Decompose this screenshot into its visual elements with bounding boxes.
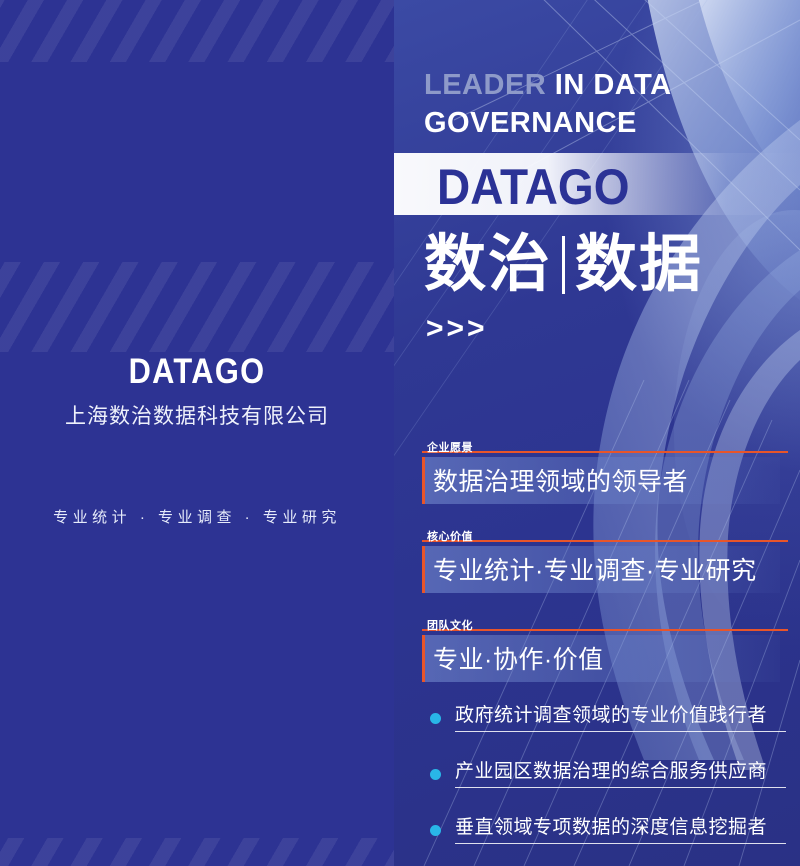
left-panel: DATAGO 上海数治数据科技有限公司 专业统计 · 专业调查 · 专业研究 xyxy=(0,0,394,866)
value-blocks: 企业愿景 数据治理领域的领导者 核心价值 专业统计·专业调查·专业研究 团队文化… xyxy=(422,438,780,705)
chinese-title-right: 数据 xyxy=(575,234,703,296)
bullet-text: 垂直领域专项数据的深度信息挖掘者 xyxy=(455,812,786,844)
value-block-vision: 企业愿景 数据治理领域的领导者 xyxy=(422,438,780,504)
bullet-dot-icon xyxy=(430,825,441,836)
value-block-culture: 团队文化 专业·协作·价值 xyxy=(422,616,780,682)
bullet-text: 政府统计调查领域的专业价值践行者 xyxy=(455,700,786,732)
bullet-text: 产业园区数据治理的综合服务供应商 xyxy=(455,756,786,788)
left-brand-wordmark: DATAGO xyxy=(24,352,371,392)
value-label: 企业愿景 xyxy=(422,439,476,456)
poster: DATAGO 上海数治数据科技有限公司 专业统计 · 专业调查 · 专业研究 xyxy=(0,0,800,866)
title-divider xyxy=(562,236,565,294)
left-panel-content: DATAGO 上海数治数据科技有限公司 专业统计 · 专业调查 · 专业研究 xyxy=(0,0,394,866)
value-text: 专业·协作·价值 xyxy=(422,635,780,682)
left-tagline: 专业统计 · 专业调查 · 专业研究 xyxy=(0,506,394,527)
list-item: 垂直领域专项数据的深度信息挖掘者 xyxy=(430,812,786,844)
value-rule xyxy=(422,451,788,453)
value-block-core: 核心价值 专业统计·专业调查·专业研究 xyxy=(422,527,780,593)
value-rule xyxy=(422,540,788,542)
left-company-name: 上海数治数据科技有限公司 xyxy=(0,400,394,430)
value-rule xyxy=(422,629,788,631)
bullet-list: 政府统计调查领域的专业价值践行者 产业园区数据治理的综合服务供应商 垂直领域专项… xyxy=(430,700,786,866)
headline-leader: LEADER xyxy=(424,69,546,101)
value-text: 专业统计·专业调查·专业研究 xyxy=(422,546,780,593)
headline: LEADER IN DATA GOVERNANCE xyxy=(424,66,794,143)
chinese-title: 数治 数据 xyxy=(424,234,703,296)
value-text: 数据治理领域的领导者 xyxy=(422,457,780,504)
list-item: 产业园区数据治理的综合服务供应商 xyxy=(430,756,786,788)
chinese-title-left: 数治 xyxy=(424,234,552,296)
wordmark-datago: DATAGO xyxy=(437,158,629,216)
value-label: 核心价值 xyxy=(422,528,476,545)
bullet-dot-icon xyxy=(430,713,441,724)
bullet-dot-icon xyxy=(430,769,441,780)
chevron-right-icon: >>> xyxy=(426,312,488,346)
value-label: 团队文化 xyxy=(422,617,476,634)
list-item: 政府统计调查领域的专业价值践行者 xyxy=(430,700,786,732)
